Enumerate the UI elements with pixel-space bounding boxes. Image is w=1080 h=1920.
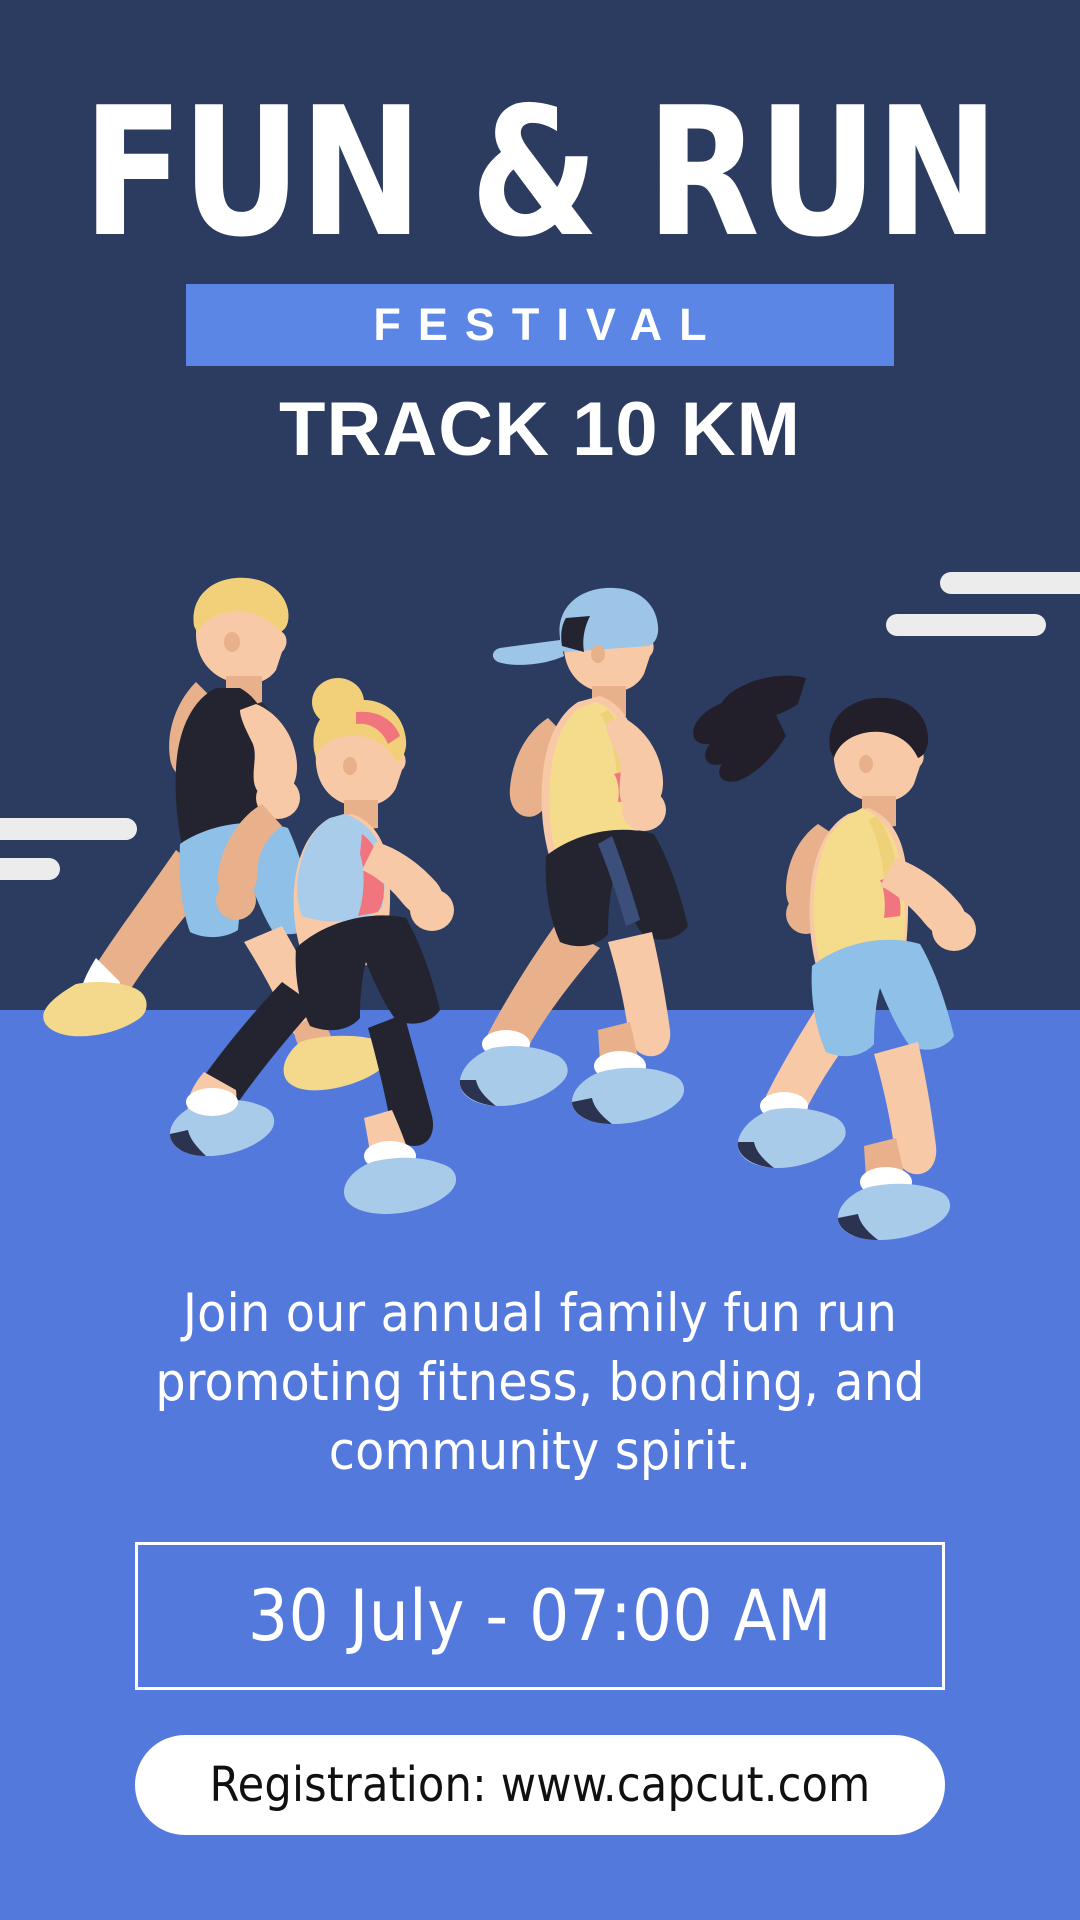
poster-canvas: FUN & RUN FESTIVAL TRACK 10 KM (0, 0, 1080, 1920)
date-time-box: 30 July - 07:00 AM (135, 1542, 945, 1690)
festival-label: FESTIVAL (356, 302, 723, 347)
festival-band: FESTIVAL (186, 284, 894, 366)
headline-block: FUN & RUN FESTIVAL TRACK 10 KM (0, 0, 1080, 468)
cap-brim (493, 640, 564, 665)
registration-label: Registration: www.capcut.com (210, 1761, 871, 1809)
sock (186, 1088, 238, 1116)
tagline-text: Join our annual family fun run promoting… (80, 1280, 1000, 1487)
shoe-yellow-back (43, 982, 146, 1036)
runner-4-ponytail-woman (693, 676, 976, 1240)
page-title: FUN & RUN (43, 98, 1037, 248)
registration-button[interactable]: Registration: www.capcut.com (135, 1735, 945, 1835)
runners-svg (0, 506, 1080, 1246)
date-time-label: 30 July - 07:00 AM (248, 1581, 832, 1651)
runners-illustration (0, 506, 1080, 1246)
track-distance-subtitle: TRACK 10 KM (0, 392, 1080, 468)
shorts-blue (812, 940, 954, 1056)
runner-3-capped-man (460, 588, 688, 1124)
